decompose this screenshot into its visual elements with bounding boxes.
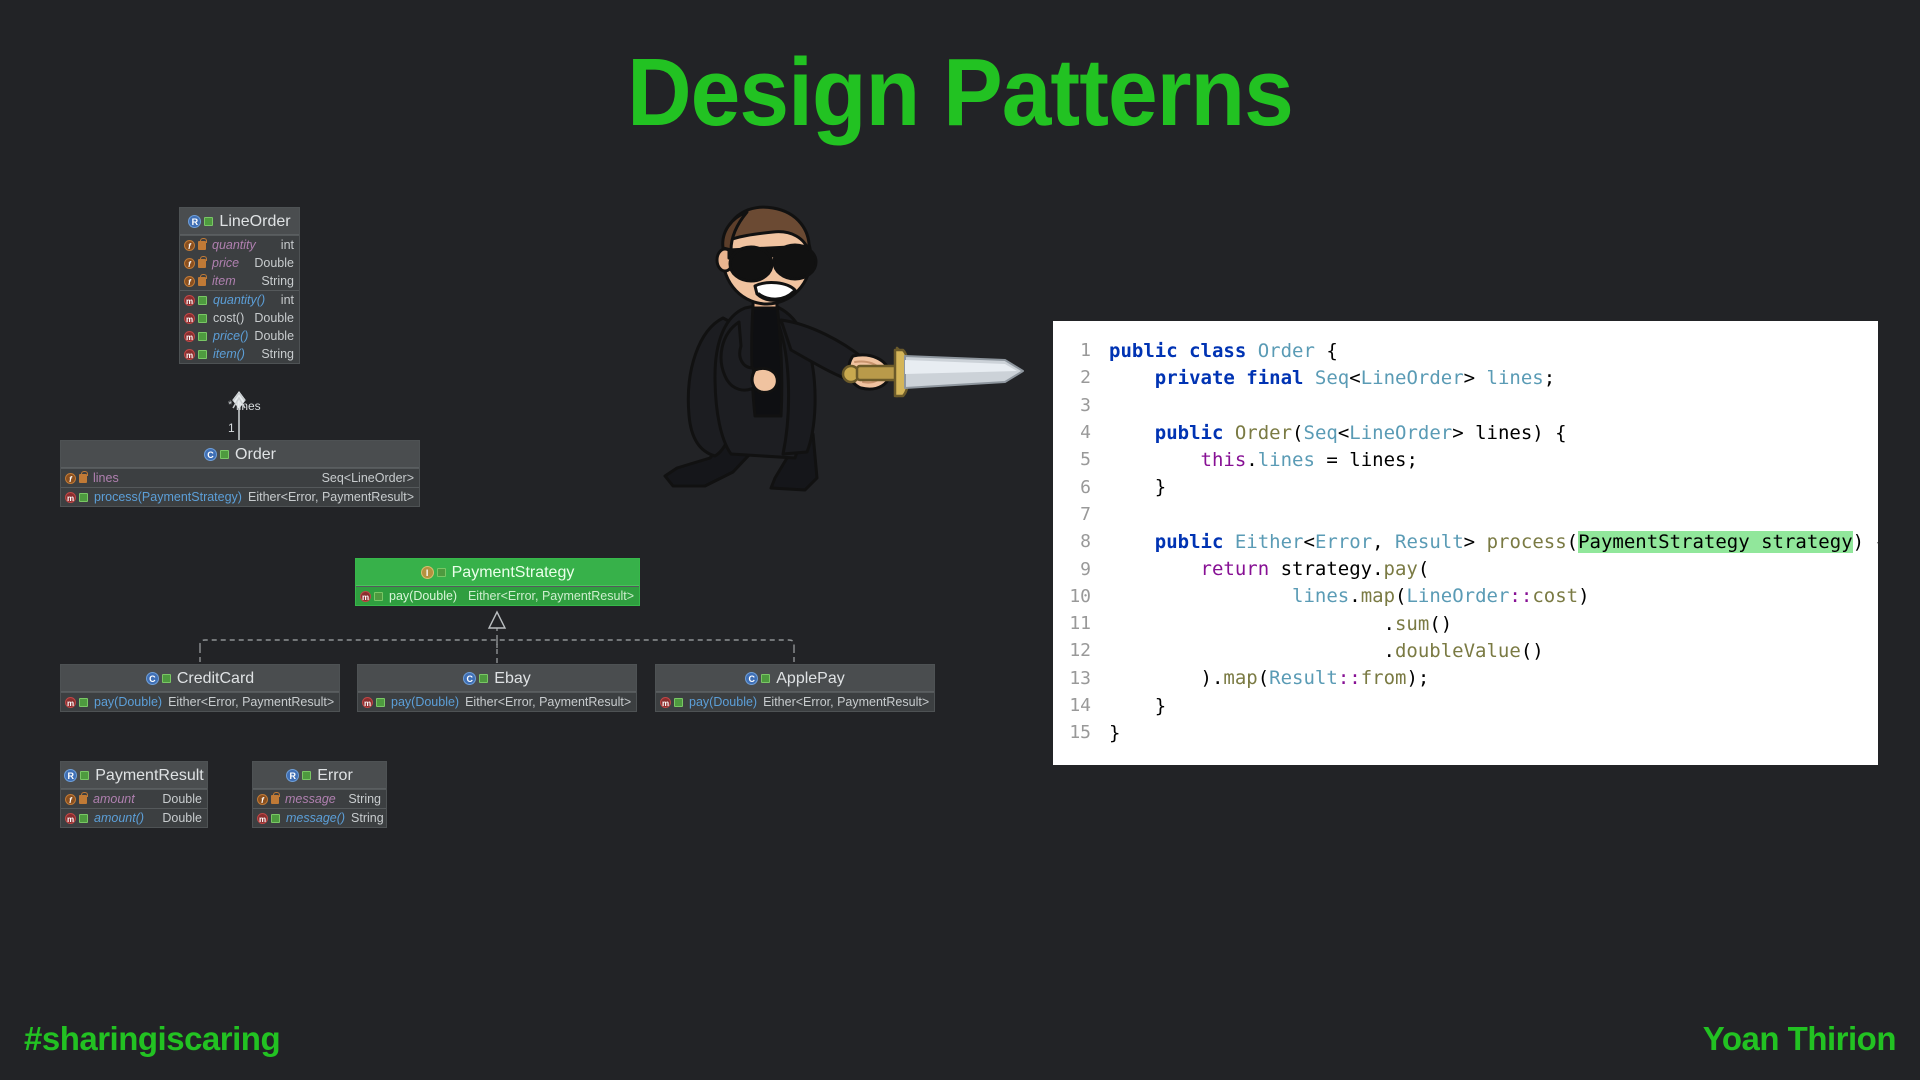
uml-class-header: CCreditCard <box>61 665 339 692</box>
code-line: 1public class Order { <box>1053 337 1878 364</box>
uml-class-name: PaymentStrategy <box>452 564 575 581</box>
line-number: 13 <box>1053 668 1109 689</box>
code-line: 12 .doubleValue() <box>1053 637 1878 664</box>
code-line: 3 <box>1053 392 1878 419</box>
uml-method-row: m item() String <box>180 345 299 363</box>
uml-method-name: amount() <box>94 809 144 827</box>
uml-methods-section: m message() String <box>253 808 386 827</box>
uml-fields-section: f amount Double <box>61 789 207 808</box>
bitmoji-avatar <box>605 190 1025 500</box>
field-icon: f <box>184 240 195 251</box>
uml-field-name: price <box>212 254 239 272</box>
uml-method-type: Either<Error, PaymentResult> <box>248 488 414 506</box>
code-line: 11 .sum() <box>1053 610 1878 637</box>
line-number: 1 <box>1053 340 1109 361</box>
code-text: lines.map(LineOrder::cost) <box>1109 585 1590 607</box>
code-line: 15} <box>1053 719 1878 746</box>
public-icon <box>220 450 229 459</box>
uml-class-paymentresult[interactable]: RPaymentResult f amount Double m amount(… <box>60 761 208 828</box>
uml-field-type: String <box>348 790 381 808</box>
uml-field-type: Seq<LineOrder> <box>322 469 414 487</box>
method-icon: m <box>184 349 195 360</box>
uml-methods-section: m pay(Double) Either<Error, PaymentResul… <box>358 692 636 711</box>
public-icon <box>761 674 770 683</box>
uml-class-header: RLineOrder <box>180 208 299 235</box>
public-icon <box>198 350 207 359</box>
code-text: public class Order { <box>1109 340 1338 362</box>
uml-methods-section: m amount() Double <box>61 808 207 827</box>
uml-method-row: m amount() Double <box>61 809 207 827</box>
uml-methods-section: m pay(Double) Either<Error, PaymentResul… <box>61 692 339 711</box>
uml-method-row: m pay(Double) Either<Error, PaymentResul… <box>358 693 636 711</box>
uml-field-row: f amount Double <box>61 790 207 808</box>
method-icon: m <box>184 313 195 324</box>
code-line: 7 <box>1053 501 1878 528</box>
public-icon <box>198 314 207 323</box>
public-icon <box>80 771 89 780</box>
method-icon: m <box>257 813 268 824</box>
uml-class-creditcard[interactable]: CCreditCard m pay(Double) Either<Error, … <box>60 664 340 712</box>
class-icon: C <box>146 672 159 685</box>
uml-method-name: pay(Double) <box>94 693 162 711</box>
public-icon <box>479 674 488 683</box>
footer-author: Yoan Thirion <box>1703 1020 1896 1058</box>
code-text: } <box>1109 722 1120 744</box>
uml-method-row: m pay(Double) Either<Error, PaymentResul… <box>61 693 339 711</box>
uml-method-name: cost() <box>213 309 244 327</box>
uml-diagram: * lines 1 RLineOrder f quantity int f pr… <box>0 0 960 1080</box>
uml-class-name: LineOrder <box>219 213 290 230</box>
uml-field-row: f lines Seq<LineOrder> <box>61 469 419 487</box>
field-icon: f <box>65 473 76 484</box>
line-number: 15 <box>1053 722 1109 743</box>
uml-method-type: String <box>351 809 384 827</box>
lock-icon <box>198 259 206 268</box>
uml-class-header: COrder <box>61 441 419 468</box>
lock-icon <box>79 795 87 804</box>
uml-method-type: int <box>281 291 294 309</box>
uml-field-type: Double <box>254 254 294 272</box>
public-icon <box>437 568 446 577</box>
public-icon <box>204 217 213 226</box>
uml-method-type: Either<Error, PaymentResult> <box>465 693 631 711</box>
interface-icon: I <box>421 566 434 579</box>
uml-class-error[interactable]: RError f message String m message() Stri… <box>252 761 387 828</box>
uml-field-type: int <box>281 236 294 254</box>
uml-class-name: Error <box>317 767 353 784</box>
uml-method-row: m quantity() int <box>180 291 299 309</box>
uml-method-type: Either<Error, PaymentResult> <box>468 587 634 605</box>
uml-method-row: m cost() Double <box>180 309 299 327</box>
method-icon: m <box>65 697 76 708</box>
code-line: 10 lines.map(LineOrder::cost) <box>1053 583 1878 610</box>
field-icon: f <box>184 276 195 287</box>
relation-label-lines: lines <box>236 399 261 413</box>
code-text: ).map(Result::from); <box>1109 667 1429 689</box>
uml-fields-section: f message String <box>253 789 386 808</box>
uml-method-type: Double <box>162 809 202 827</box>
method-icon: m <box>660 697 671 708</box>
code-line: 6 } <box>1053 473 1878 500</box>
line-number: 3 <box>1053 395 1109 416</box>
method-icon: m <box>184 295 195 306</box>
uml-class-lineorder[interactable]: RLineOrder f quantity int f price Double… <box>179 207 300 364</box>
uml-field-row: f price Double <box>180 254 299 272</box>
line-number: 9 <box>1053 559 1109 580</box>
method-icon: m <box>65 813 76 824</box>
uml-method-row: m pay(Double) Either<Error, PaymentResul… <box>656 693 934 711</box>
public-icon <box>162 674 171 683</box>
uml-method-type: Double <box>254 327 294 345</box>
uml-field-type: String <box>261 272 294 290</box>
field-icon: f <box>257 794 268 805</box>
method-icon: m <box>65 492 76 503</box>
uml-method-row: m pay(Double) Either<Error, PaymentResul… <box>356 587 639 605</box>
method-icon: m <box>360 591 371 602</box>
code-text: public Either<Error, Result> process(Pay… <box>1109 531 1878 553</box>
field-icon: f <box>65 794 76 805</box>
uml-method-name: quantity() <box>213 291 265 309</box>
uml-class-name: ApplePay <box>776 670 845 687</box>
code-panel[interactable]: 1public class Order { 2 private final Se… <box>1053 321 1878 765</box>
class-icon: C <box>204 448 217 461</box>
uml-connectors <box>0 0 960 1080</box>
code-line: 2 private final Seq<LineOrder> lines; <box>1053 364 1878 391</box>
code-line: 13 ).map(Result::from); <box>1053 665 1878 692</box>
uml-fields-section: f lines Seq<LineOrder> <box>61 468 419 487</box>
record-icon: R <box>64 769 77 782</box>
code-line: 14 } <box>1053 692 1878 719</box>
uml-class-header: CEbay <box>358 665 636 692</box>
public-icon <box>302 771 311 780</box>
public-icon <box>271 814 280 823</box>
uml-class-ebay[interactable]: CEbay m pay(Double) Either<Error, Paymen… <box>357 664 637 712</box>
uml-method-type: String <box>261 345 294 363</box>
uml-method-row: m message() String <box>253 809 386 827</box>
uml-method-name: process(PaymentStrategy) <box>94 488 242 506</box>
method-icon: m <box>362 697 373 708</box>
line-number: 5 <box>1053 449 1109 470</box>
code-line: 9 return strategy.pay( <box>1053 555 1878 582</box>
uml-method-type: Either<Error, PaymentResult> <box>763 693 929 711</box>
uml-methods-section: m process(PaymentStrategy) Either<Error,… <box>61 487 419 506</box>
uml-class-name: Ebay <box>494 670 530 687</box>
uml-method-name: item() <box>213 345 245 363</box>
uml-class-name: CreditCard <box>177 670 254 687</box>
code-text: this.lines = lines; <box>1109 449 1418 471</box>
uml-method-name: pay(Double) <box>391 693 459 711</box>
class-icon: C <box>745 672 758 685</box>
uml-class-header: CApplePay <box>656 665 934 692</box>
uml-method-type: Double <box>254 309 294 327</box>
code-text: .doubleValue() <box>1109 640 1544 662</box>
line-number: 14 <box>1053 695 1109 716</box>
uml-field-type: Double <box>162 790 202 808</box>
uml-class-paymentstrategy[interactable]: IPaymentStrategy m pay(Double) Either<Er… <box>355 558 640 606</box>
public-icon <box>198 296 207 305</box>
uml-field-row: f message String <box>253 790 386 808</box>
public-icon <box>674 698 683 707</box>
uml-method-row: m process(PaymentStrategy) Either<Error,… <box>61 488 419 506</box>
code-text: .sum() <box>1109 613 1452 635</box>
public-icon <box>198 332 207 341</box>
public-icon <box>79 698 88 707</box>
field-icon: f <box>184 258 195 269</box>
uml-method-name: pay(Double) <box>389 587 457 605</box>
record-icon: R <box>188 215 201 228</box>
line-number: 11 <box>1053 613 1109 634</box>
line-number: 10 <box>1053 586 1109 607</box>
uml-class-header: IPaymentStrategy <box>356 559 639 586</box>
uml-fields-section: f quantity int f price Double f item Str… <box>180 235 299 290</box>
public-icon <box>79 814 88 823</box>
code-text: return strategy.pay( <box>1109 558 1429 580</box>
uml-class-order[interactable]: COrder f lines Seq<LineOrder> m process(… <box>60 440 420 507</box>
uml-method-name: message() <box>286 809 345 827</box>
uml-class-header: RError <box>253 762 386 789</box>
uml-method-row: m price() Double <box>180 327 299 345</box>
lock-icon <box>271 795 279 804</box>
class-icon: C <box>463 672 476 685</box>
lock-icon <box>79 474 87 483</box>
code-text: } <box>1109 695 1166 717</box>
footer-hashtag: #sharingiscaring <box>24 1020 280 1058</box>
uml-methods-section: m pay(Double) Either<Error, PaymentResul… <box>356 586 639 605</box>
line-number: 6 <box>1053 477 1109 498</box>
uml-field-name: quantity <box>212 236 256 254</box>
code-text: public Order(Seq<LineOrder> lines) { <box>1109 422 1567 444</box>
uml-field-row: f quantity int <box>180 236 299 254</box>
uml-methods-section: m pay(Double) Either<Error, PaymentResul… <box>656 692 934 711</box>
uml-field-name: message <box>285 790 336 808</box>
code-line: 4 public Order(Seq<LineOrder> lines) { <box>1053 419 1878 446</box>
uml-methods-section: m quantity() int m cost() Double m price… <box>180 290 299 363</box>
lock-icon <box>198 241 206 250</box>
uml-method-name: pay(Double) <box>689 693 757 711</box>
method-icon: m <box>184 331 195 342</box>
line-number: 2 <box>1053 367 1109 388</box>
uml-field-name: amount <box>93 790 135 808</box>
uml-class-header: RPaymentResult <box>61 762 207 789</box>
code-text: private final Seq<LineOrder> lines; <box>1109 367 1555 389</box>
code-line: 5 this.lines = lines; <box>1053 446 1878 473</box>
code-text: } <box>1109 476 1166 498</box>
record-icon: R <box>286 769 299 782</box>
lock-icon <box>198 277 206 286</box>
public-icon <box>79 493 88 502</box>
public-icon <box>376 698 385 707</box>
slide-root: Design Patterns * lines 1 <box>0 0 1920 1080</box>
uml-field-row: f item String <box>180 272 299 290</box>
relation-target-multiplicity: * <box>228 399 232 411</box>
line-number: 8 <box>1053 531 1109 552</box>
line-number: 12 <box>1053 640 1109 661</box>
uml-class-name: PaymentResult <box>95 767 204 784</box>
uml-method-type: Either<Error, PaymentResult> <box>168 693 334 711</box>
uml-field-name: lines <box>93 469 119 487</box>
relation-source-multiplicity: 1 <box>228 421 235 435</box>
line-number: 7 <box>1053 504 1109 525</box>
highlighted-parameter: PaymentStrategy strategy <box>1578 531 1853 553</box>
uml-class-applepay[interactable]: CApplePay m pay(Double) Either<Error, Pa… <box>655 664 935 712</box>
uml-method-name: price() <box>213 327 248 345</box>
line-number: 4 <box>1053 422 1109 443</box>
code-line: 8 public Either<Error, Result> process(P… <box>1053 528 1878 555</box>
uml-field-name: item <box>212 272 236 290</box>
uml-class-name: Order <box>235 446 276 463</box>
public-icon <box>374 592 383 601</box>
